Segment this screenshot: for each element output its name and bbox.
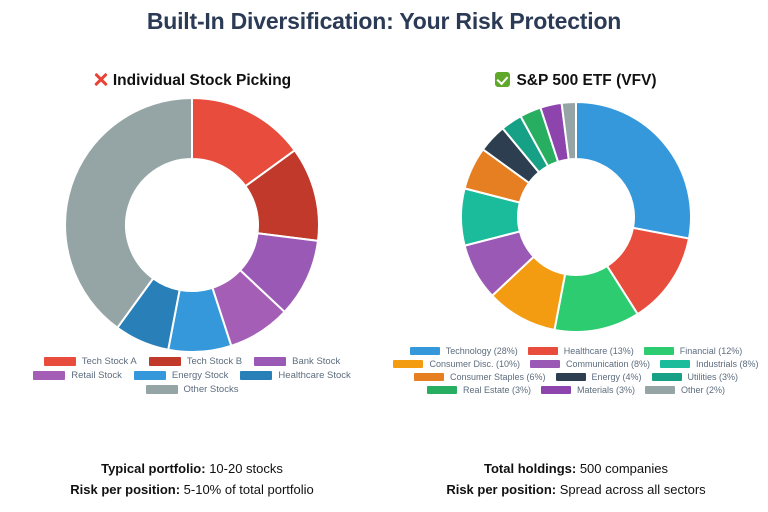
legend-item[interactable]: Financial (12%) — [644, 346, 743, 356]
legend-color-swatch — [644, 347, 674, 355]
left-caption-value-2: 5-10% of total portfolio — [180, 482, 314, 497]
legend-item[interactable]: Other (2%) — [645, 385, 725, 395]
legend-color-swatch — [410, 347, 440, 355]
legend-color-swatch — [528, 347, 558, 355]
legend-item-label: Tech Stock B — [187, 356, 242, 367]
red-x-mark-icon — [93, 72, 108, 87]
legend-item[interactable]: Tech Stock A — [44, 356, 137, 367]
green-check-mark-icon — [495, 72, 510, 87]
right-caption-label-2: Risk per position: — [446, 482, 556, 497]
left-panel-title: Individual Stock Picking — [0, 70, 384, 92]
legend-item-label: Energy (4%) — [592, 372, 642, 382]
legend-item[interactable]: Other Stocks — [146, 384, 239, 395]
legend-item-label: Energy Stock — [172, 370, 229, 381]
legend-color-swatch — [530, 360, 560, 368]
legend-item[interactable]: Industrials (8%) — [660, 359, 759, 369]
legend-item-label: Real Estate (3%) — [463, 385, 531, 395]
right-panel-title-text: S&P 500 ETF (VFV) — [516, 72, 656, 89]
legend-color-swatch — [44, 357, 76, 366]
legend-color-swatch — [393, 360, 423, 368]
legend-item-label: Other Stocks — [184, 384, 239, 395]
legend-item-label: Communication (8%) — [566, 359, 650, 369]
right-caption-label-1: Total holdings: — [484, 461, 576, 476]
left-caption-line-2: Risk per position: 5-10% of total portfo… — [0, 479, 384, 500]
slide-root: Built-In Diversification: Your Risk Prot… — [0, 0, 768, 512]
right-caption-value-2: Spread across all sectors — [556, 482, 706, 497]
panel-sp500-etf: S&P 500 ETF (VFV) Technology (28%)Health… — [384, 70, 768, 512]
legend-item-label: Healthcare Stock — [278, 370, 350, 381]
left-caption-label-2: Risk per position: — [70, 482, 180, 497]
legend-item-label: Consumer Disc. (10%) — [429, 359, 520, 369]
legend-color-swatch — [33, 371, 65, 380]
legend-color-swatch — [427, 386, 457, 394]
donut-slice — [576, 102, 691, 239]
legend-item-label: Financial (12%) — [680, 346, 743, 356]
right-caption-line-2: Risk per position: Spread across all sec… — [384, 479, 768, 500]
legend-item[interactable]: Technology (28%) — [410, 346, 518, 356]
legend-color-swatch — [645, 386, 675, 394]
left-caption-value-1: 10-20 stocks — [206, 461, 283, 476]
left-caption-label-1: Typical portfolio: — [101, 461, 205, 476]
legend-item-label: Consumer Staples (6%) — [450, 372, 546, 382]
legend-item[interactable]: Healthcare (13%) — [528, 346, 634, 356]
legend-color-swatch — [149, 357, 181, 366]
legend-color-swatch — [541, 386, 571, 394]
legend-item-label: Utilities (3%) — [688, 372, 739, 382]
legend-item[interactable]: Materials (3%) — [541, 385, 635, 395]
legend-item[interactable]: Real Estate (3%) — [427, 385, 531, 395]
legend-item[interactable]: Energy (4%) — [556, 372, 642, 382]
left-donut-svg — [61, 94, 323, 356]
legend-item[interactable]: Consumer Disc. (10%) — [393, 359, 520, 369]
legend-item-label: Materials (3%) — [577, 385, 635, 395]
legend-item-label: Industrials (8%) — [696, 359, 759, 369]
legend-item[interactable]: Tech Stock B — [149, 356, 242, 367]
legend-item[interactable]: Bank Stock — [254, 356, 340, 367]
legend-item[interactable]: Healthcare Stock — [240, 370, 350, 381]
legend-color-swatch — [660, 360, 690, 368]
right-donut-svg — [457, 98, 695, 336]
right-caption: Total holdings: 500 companies Risk per p… — [384, 458, 768, 500]
right-caption-line-1: Total holdings: 500 companies — [384, 458, 768, 479]
legend-item-label: Bank Stock — [292, 356, 340, 367]
legend-item[interactable]: Energy Stock — [134, 370, 229, 381]
page-title: Built-In Diversification: Your Risk Prot… — [0, 8, 768, 35]
legend-color-swatch — [556, 373, 586, 381]
legend-item-label: Other (2%) — [681, 385, 725, 395]
legend-sp500-sectors: Technology (28%)Healthcare (13%)Financia… — [384, 346, 768, 395]
legend-item-label: Tech Stock A — [82, 356, 137, 367]
right-caption-value-1: 500 companies — [576, 461, 668, 476]
legend-color-swatch — [414, 373, 444, 381]
legend-color-swatch — [652, 373, 682, 381]
donut-chart-individual-stocks — [0, 94, 384, 356]
panel-individual-stock-picking: Individual Stock Picking Tech Stock ATec… — [0, 70, 384, 512]
legend-item[interactable]: Consumer Staples (6%) — [414, 372, 546, 382]
legend-color-swatch — [134, 371, 166, 380]
legend-item-label: Healthcare (13%) — [564, 346, 634, 356]
legend-item-label: Retail Stock — [71, 370, 122, 381]
right-panel-title: S&P 500 ETF (VFV) — [384, 70, 768, 92]
legend-color-swatch — [254, 357, 286, 366]
legend-color-swatch — [240, 371, 272, 380]
left-caption: Typical portfolio: 10-20 stocks Risk per… — [0, 458, 384, 500]
legend-item-label: Technology (28%) — [446, 346, 518, 356]
legend-item[interactable]: Communication (8%) — [530, 359, 650, 369]
donut-chart-sp500-sectors — [384, 98, 768, 346]
left-caption-line-1: Typical portfolio: 10-20 stocks — [0, 458, 384, 479]
left-panel-title-text: Individual Stock Picking — [113, 72, 291, 89]
legend-item[interactable]: Utilities (3%) — [652, 372, 739, 382]
legend-item[interactable]: Retail Stock — [33, 370, 122, 381]
legend-color-swatch — [146, 385, 178, 394]
legend-individual-stocks: Tech Stock ATech Stock BBank StockRetail… — [0, 356, 384, 395]
